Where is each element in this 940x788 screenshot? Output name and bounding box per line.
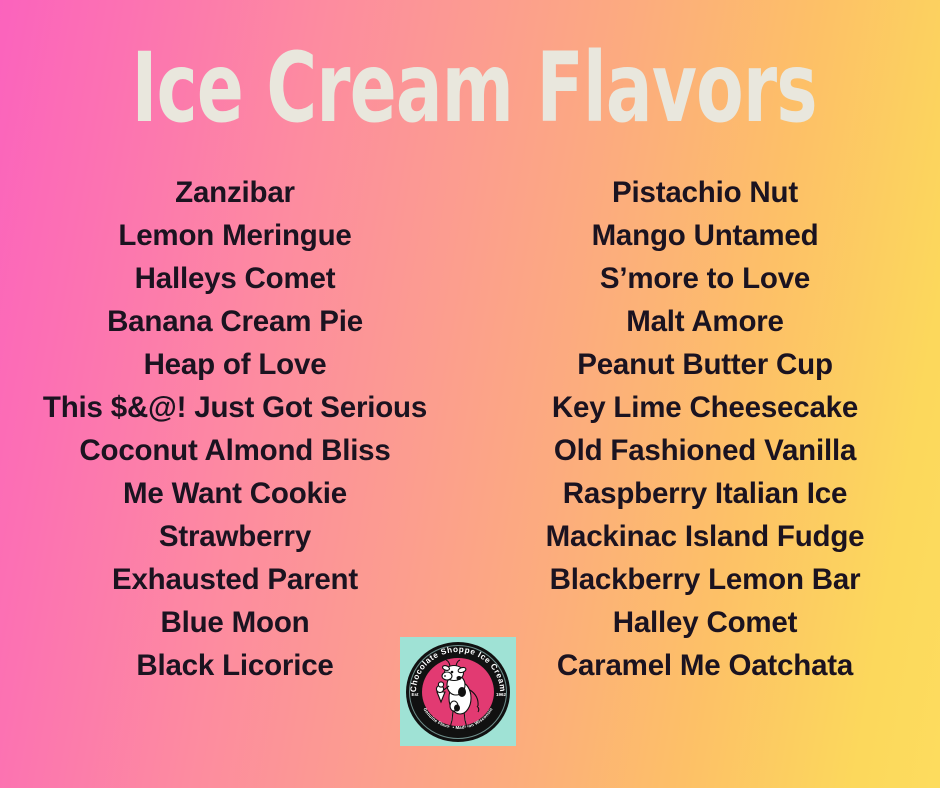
flavor-item: Blue Moon (161, 601, 310, 644)
flavor-item: Old Fashioned Vanilla (554, 429, 856, 472)
flavor-item: Malt Amore (626, 300, 784, 343)
flavor-item: Strawberry (159, 515, 311, 558)
flavor-item: Mackinac Island Fudge (546, 515, 865, 558)
flavor-item: S’more to Love (600, 257, 810, 300)
poster-canvas: Ice Cream Flavors Zanzibar Lemon Meringu… (0, 0, 940, 788)
flavor-item: Coconut Almond Bliss (79, 429, 390, 472)
flavor-item: Key Lime Cheesecake (552, 386, 858, 429)
logo-left-mark: Est (411, 692, 419, 697)
flavor-item: Black Licorice (136, 644, 333, 687)
left-column: Zanzibar Lemon Meringue Halleys Comet Ba… (0, 171, 470, 687)
flavor-item: Caramel Me Oatchata (557, 644, 853, 687)
page-title: Ice Cream Flavors (132, 34, 809, 142)
flavor-item: Mango Untamed (592, 214, 819, 257)
right-column: Pistachio Nut Mango Untamed S’more to Lo… (470, 171, 940, 687)
flavor-item: Me Want Cookie (123, 472, 347, 515)
flavor-item: Pistachio Nut (612, 171, 798, 214)
flavor-item: Halley Comet (613, 601, 798, 644)
flavor-item: Raspberry Italian Ice (563, 472, 847, 515)
flavor-item: This $&@! Just Got Serious (43, 386, 427, 429)
flavor-item: Exhausted Parent (112, 558, 358, 601)
chocolate-shoppe-ice-cream-logo: Chocolate Shoppe Ice Cream Genuine Flavo… (400, 637, 516, 746)
flavor-item: Halleys Comet (135, 257, 336, 300)
flavor-item: Banana Cream Pie (107, 300, 363, 343)
flavor-item: Peanut Butter Cup (577, 343, 833, 386)
logo-badge-icon: Chocolate Shoppe Ice Cream Genuine Flavo… (404, 640, 512, 744)
logo-right-mark: 1962 (496, 692, 507, 697)
flavor-item: Heap of Love (144, 343, 327, 386)
flavor-item: Blackberry Lemon Bar (550, 558, 861, 601)
flavor-item: Zanzibar (175, 171, 295, 214)
flavor-item: Lemon Meringue (118, 214, 351, 257)
flavor-columns: Zanzibar Lemon Meringue Halleys Comet Ba… (0, 171, 940, 687)
